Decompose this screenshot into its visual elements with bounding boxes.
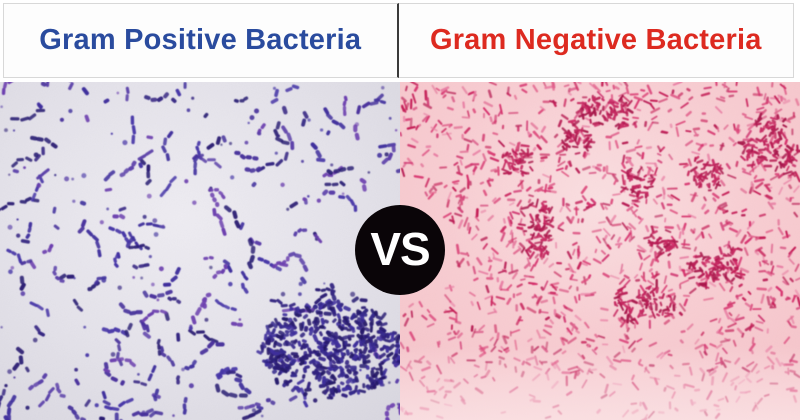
- panel-gram-negative: [400, 82, 800, 420]
- comparison-figure: Gram Positive Bacteria Gram Negative Bac…: [0, 0, 800, 420]
- page-title-gram-positive: Gram Positive Bacteria: [39, 26, 361, 55]
- header-cell-gram-negative: Gram Negative Bacteria: [399, 3, 795, 78]
- versus-label: VS: [370, 226, 429, 272]
- gram-positive-micrograph-image: [0, 82, 400, 420]
- gram-negative-micrograph-image: [400, 82, 800, 420]
- header-row: Gram Positive Bacteria Gram Negative Bac…: [3, 3, 794, 78]
- versus-badge: VS: [355, 205, 445, 295]
- header-cell-gram-positive: Gram Positive Bacteria: [3, 3, 399, 78]
- panel-gram-positive: [0, 82, 400, 420]
- page-title-gram-negative: Gram Negative Bacteria: [430, 26, 762, 55]
